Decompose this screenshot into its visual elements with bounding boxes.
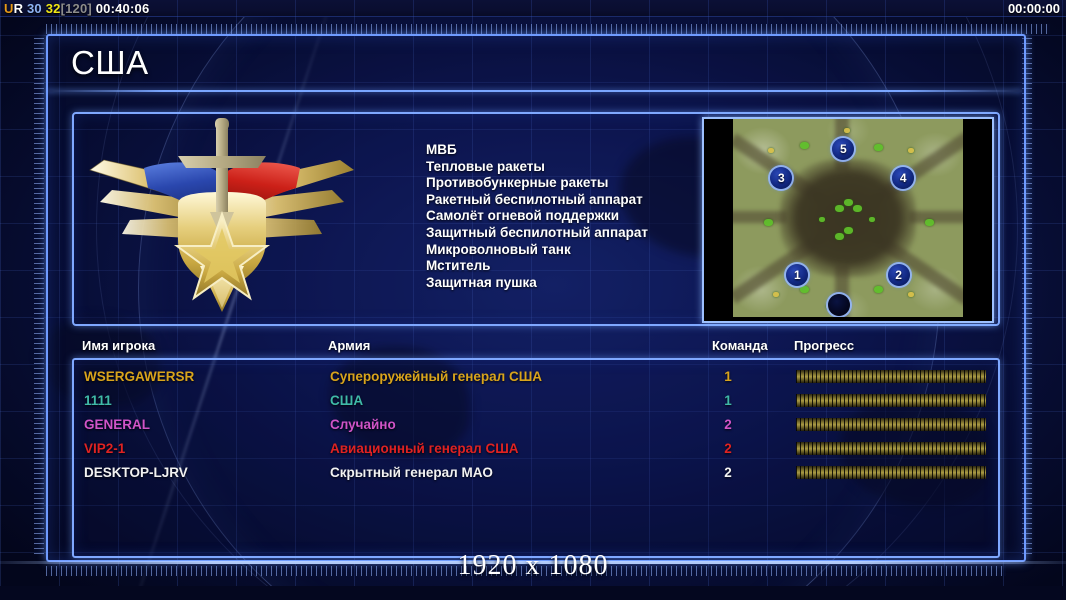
map-resource-node — [874, 286, 883, 293]
player-army: Случайно — [330, 417, 396, 432]
table-row[interactable]: WSERGAWERSR Супероружейный генерал США 1 — [74, 366, 998, 390]
unit-list-item: Тепловые ракеты — [426, 159, 716, 176]
player-table-header: Имя игрока Армия Команда Прогресс — [72, 338, 996, 358]
resolution-text: 1920 x 1080 — [458, 550, 609, 581]
player-name: 1111 — [84, 393, 112, 408]
table-row[interactable]: 1111 США 1 — [74, 390, 998, 414]
map-resource-node — [844, 199, 853, 206]
secondary-clock: 00:00:00 — [1008, 0, 1060, 17]
status-value-3: [120] — [61, 0, 92, 17]
column-header-army: Армия — [328, 338, 370, 353]
status-prefix-u: U — [4, 0, 14, 17]
top-status-bar: UR 30 32[120] 00:40:06 00:00:00 — [0, 0, 1066, 17]
player-team: 2 — [717, 441, 739, 456]
map-resource-node — [768, 148, 774, 153]
table-row[interactable]: VIP2-1 Авиационный генерал США 2 — [74, 438, 998, 462]
map-resource-node — [908, 148, 914, 153]
map-resource-node — [925, 219, 934, 226]
unit-list-item: Ракетный беспилотный аппарат — [426, 192, 716, 209]
player-progress-bar — [796, 394, 986, 407]
resolution-readout: 1920 x 1080 — [0, 550, 1066, 586]
map-resource-node — [800, 142, 809, 149]
player-team: 2 — [717, 417, 739, 432]
unit-list-item: Защитный беспилотный аппарат — [426, 225, 716, 242]
column-header-player-name: Имя игрока — [82, 338, 155, 353]
map-start-position-5[interactable]: 5 — [832, 138, 854, 160]
map-preview[interactable]: 1 2 3 4 5 — [702, 117, 994, 323]
usa-eagle-emblem-icon — [82, 116, 362, 314]
player-progress-bar — [796, 370, 986, 383]
column-header-progress: Прогресс — [794, 338, 854, 353]
player-name: WSERGAWERSR — [84, 369, 194, 384]
ruler-top — [46, 24, 1050, 34]
player-army: Авиационный генерал США — [330, 441, 519, 456]
player-team: 1 — [717, 393, 739, 408]
player-team: 2 — [717, 465, 739, 480]
faction-unit-list: МВБ Тепловые ракеты Противобункерные рак… — [426, 142, 716, 291]
title-divider — [46, 90, 1022, 92]
map-resource-node — [835, 233, 844, 240]
player-name: DESKTOP-LJRV — [84, 465, 188, 480]
map-resource-node — [874, 144, 883, 151]
map-preview-image: 1 2 3 4 5 — [733, 119, 963, 317]
status-value-2: 32 — [46, 0, 61, 17]
unit-list-item: Мститель — [426, 258, 716, 275]
bottom-black-strip — [0, 586, 1066, 600]
map-resource-node — [764, 219, 773, 226]
column-header-team: Команда — [712, 338, 768, 353]
player-progress-bar — [796, 418, 986, 431]
player-list-panel: WSERGAWERSR Супероружейный генерал США 1… — [72, 358, 1000, 558]
game-lobby-screen: UR 30 32[120] 00:40:06 00:00:00 США — [0, 0, 1066, 600]
map-resource-node — [844, 128, 850, 133]
player-progress-bar — [796, 442, 986, 455]
status-bar-grid — [0, 0, 1066, 17]
map-resource-node — [819, 217, 825, 222]
map-resource-node — [835, 205, 844, 212]
page-title: США — [71, 44, 149, 82]
table-row[interactable]: DESKTOP-LJRV Скрытный генерал МАО 2 — [74, 462, 998, 486]
map-resource-node — [844, 227, 853, 234]
title-bar: США — [46, 36, 1022, 94]
status-prefix-r: R — [14, 0, 24, 17]
player-name: GENERAL — [84, 417, 150, 432]
map-start-position-2[interactable]: 2 — [888, 264, 910, 286]
unit-list-item: Микроволновый танк — [426, 242, 716, 259]
map-start-position-empty[interactable] — [828, 294, 850, 316]
player-name: VIP2-1 — [84, 441, 125, 456]
table-row[interactable]: GENERAL Случайно 2 — [74, 414, 998, 438]
ruler-left — [34, 34, 44, 554]
player-army: Скрытный генерал МАО — [330, 465, 493, 480]
unit-list-item: Противобункерные ракеты — [426, 175, 716, 192]
status-value-1: 30 — [27, 0, 42, 17]
unit-list-item: Самолёт огневой поддержки — [426, 208, 716, 225]
player-progress-bar — [796, 466, 986, 479]
player-army: США — [330, 393, 363, 408]
faction-info-panel: МВБ Тепловые ракеты Противобункерные рак… — [72, 112, 1000, 326]
map-resource-node — [869, 217, 875, 222]
unit-list-item: МВБ — [426, 142, 716, 159]
elapsed-clock: 00:40:06 — [96, 0, 150, 17]
player-team: 1 — [717, 369, 739, 384]
map-resource-node — [853, 205, 862, 212]
unit-list-item: Защитная пушка — [426, 275, 716, 292]
player-army: Супероружейный генерал США — [330, 369, 542, 384]
map-resource-node — [773, 292, 779, 297]
resource-status-readout: UR 30 32[120] 00:40:06 — [4, 0, 149, 17]
